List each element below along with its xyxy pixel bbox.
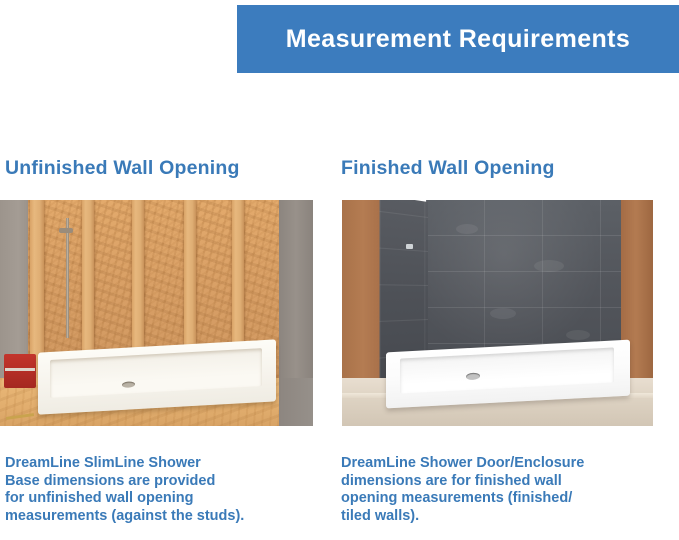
drain-icon: [122, 381, 135, 388]
page-title: Measurement Requirements: [286, 25, 630, 54]
unfinished-shower-scene: [0, 200, 313, 426]
header-banner: Measurement Requirements: [237, 5, 679, 73]
tile-texture: [456, 224, 478, 234]
tile-texture: [534, 260, 564, 272]
pipe-fitting: [59, 228, 73, 233]
section-heading-unfinished: Unfinished Wall Opening: [5, 157, 240, 180]
drain-icon: [466, 372, 480, 380]
caption-unfinished: DreamLine SlimLine Shower Base dimension…: [5, 455, 305, 525]
photo-finished-wall-opening: [342, 200, 653, 426]
photo-unfinished-wall-opening: [0, 200, 313, 426]
section-heading-finished: Finished Wall Opening: [341, 157, 555, 180]
toolbox-handle: [5, 368, 35, 371]
gray-wall-base: [279, 378, 313, 426]
shower-base-floor: [50, 348, 262, 398]
shower-base-floor: [400, 347, 614, 393]
tile-texture: [566, 330, 590, 340]
gray-wall-left: [0, 200, 30, 378]
shower-valve-icon: [406, 244, 413, 249]
red-toolbox: [4, 354, 36, 388]
water-supply-pipe: [66, 218, 69, 338]
caption-finished: DreamLine Shower Door/Enclosure dimensio…: [341, 455, 646, 525]
finished-shower-scene: [342, 200, 653, 426]
brown-wall-left: [342, 200, 380, 378]
tile-texture: [490, 308, 516, 319]
gray-wall-right: [279, 200, 313, 400]
